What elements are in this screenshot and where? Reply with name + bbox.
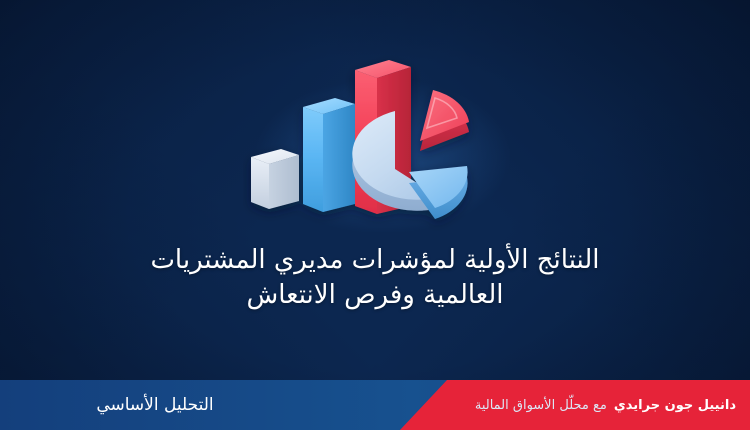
- promo-card: النتائج الأولية لمؤشرات مديري المشتريات …: [0, 0, 750, 430]
- analyst-name: دانييل جون جرايدي: [614, 398, 736, 413]
- analyst-role: مع محلّل الأسواق المالية: [475, 398, 607, 413]
- category-label: التحليل الأساسي: [0, 380, 310, 430]
- headline-line-2: العالمية وفرص الانتعاش: [58, 278, 692, 313]
- bar-blue: [303, 98, 355, 212]
- bar-white: [251, 149, 299, 209]
- headline: النتائج الأولية لمؤشرات مديري المشتريات …: [0, 243, 750, 312]
- analyst-credit: دانييل جون جرايدي مع محلّل الأسواق المال…: [475, 380, 736, 430]
- bottom-banner: التحليل الأساسي دانييل جون جرايدي مع محل…: [0, 380, 750, 430]
- headline-line-1: النتائج الأولية لمؤشرات مديري المشتريات: [58, 243, 692, 278]
- chart-illustration: [243, 52, 515, 232]
